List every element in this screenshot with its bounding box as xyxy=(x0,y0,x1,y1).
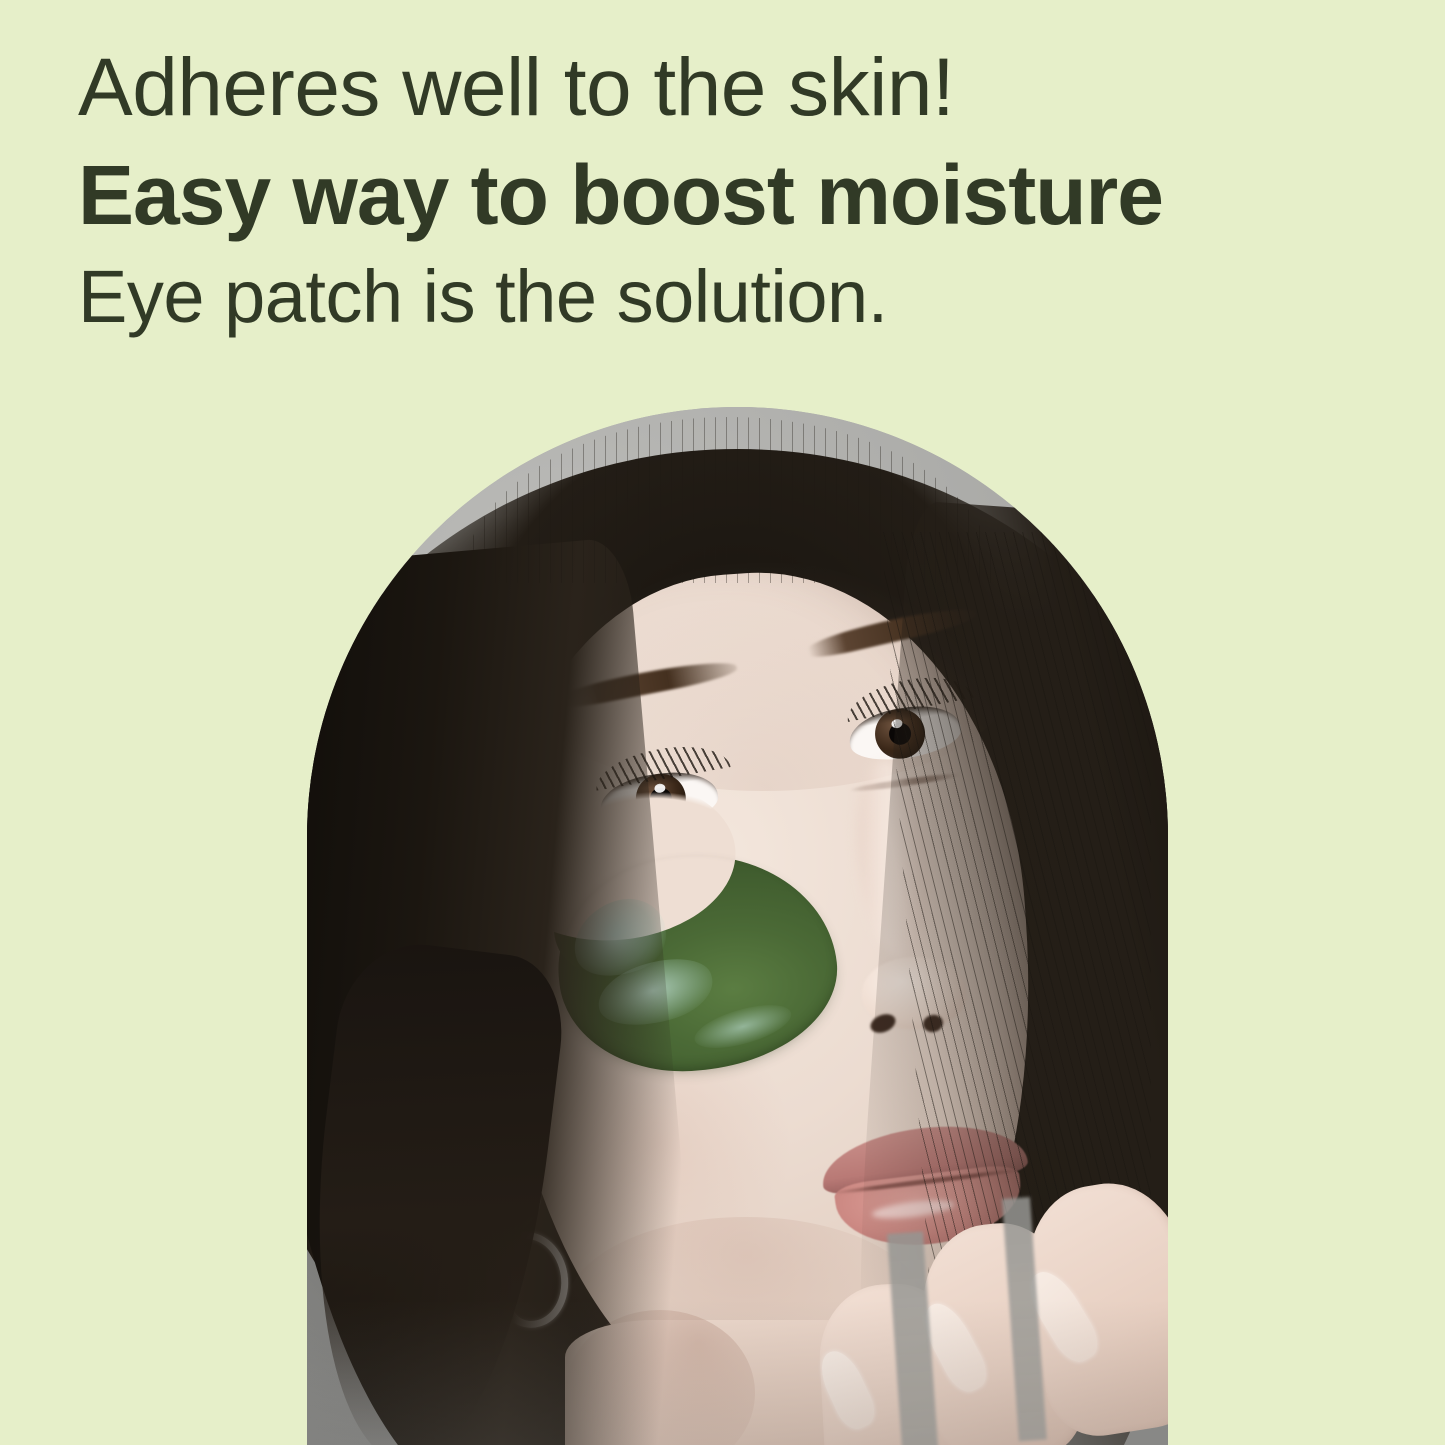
headline-line-main: Easy way to boost moisture xyxy=(78,148,1368,242)
fingernail-index xyxy=(813,1344,881,1434)
model-photo xyxy=(307,407,1168,1445)
headline-line-sub: Eye patch is the solution. xyxy=(78,256,1368,339)
headline-block: Adheres well to the skin! Easy way to bo… xyxy=(78,42,1368,339)
model-photo-arch xyxy=(307,407,1168,1445)
headline-line-top: Adheres well to the skin! xyxy=(78,42,1368,134)
promo-card: Adheres well to the skin! Easy way to bo… xyxy=(0,0,1445,1445)
